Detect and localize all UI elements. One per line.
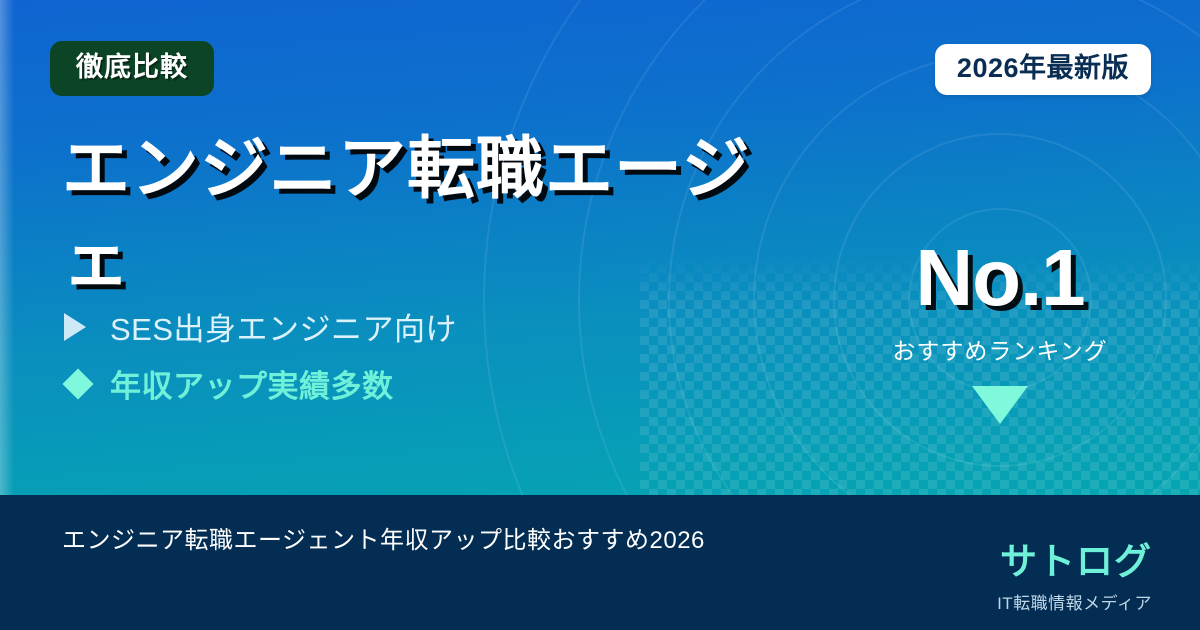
list-item-label: SES出身エンジニア向け — [110, 304, 457, 349]
brand-name: サトログ — [997, 543, 1152, 580]
rank-number: No.1 — [860, 238, 1140, 318]
rank-subtitle: おすすめランキング — [860, 332, 1140, 366]
list-item-label: 年収アップ実績多数 — [110, 361, 394, 406]
feature-list: SES出身エンジニア向け 年収アップ実績多数 — [64, 304, 457, 418]
list-item: 年収アップ実績多数 — [64, 361, 457, 406]
hero-section: 徹底比較 2026年最新版 エンジニア転職エージェ SES出身エンジニア向け 年… — [0, 0, 1200, 495]
footer-bar: エンジニア転職エージェント年収アップ比較おすすめ2026 サトログ IT転職情報… — [0, 495, 1200, 630]
diamond-icon — [64, 373, 110, 395]
triangle-right-icon — [64, 313, 110, 341]
brand-tagline: IT転職情報メディア — [997, 589, 1152, 614]
brand-logo: サトログ IT転職情報メディア — [997, 543, 1152, 614]
compare-badge: 徹底比較 — [50, 41, 214, 96]
ranking-block: No.1 おすすめランキング — [860, 238, 1140, 424]
left-edge-glow — [0, 0, 14, 495]
footer-title: エンジニア転職エージェント年収アップ比較おすすめ2026 — [62, 520, 705, 555]
list-item: SES出身エンジニア向け — [64, 304, 457, 349]
triangle-down-icon — [972, 386, 1028, 424]
page-title: エンジニア転職エージェ — [62, 124, 792, 306]
year-badge: 2026年最新版 — [935, 44, 1151, 95]
ogp-banner: 徹底比較 2026年最新版 エンジニア転職エージェ SES出身エンジニア向け 年… — [0, 0, 1200, 630]
